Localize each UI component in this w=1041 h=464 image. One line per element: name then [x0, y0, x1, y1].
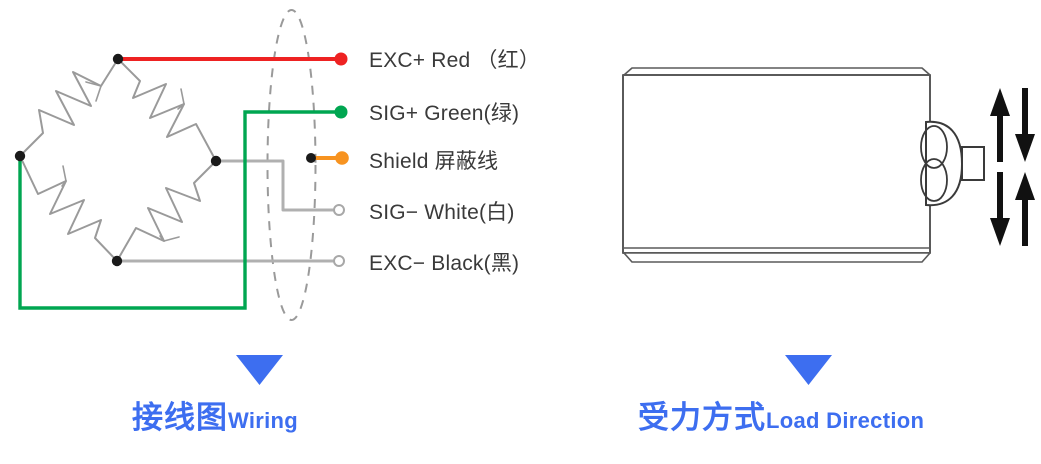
cable-sheath-ellipse: [268, 10, 316, 320]
resistor-top-right: [118, 59, 216, 161]
load-direction-caption-cn: 受力方式: [638, 400, 766, 435]
load-cell-body: [623, 75, 930, 253]
terminal-exc-minus: [334, 256, 344, 266]
terminal-shield: [335, 151, 349, 165]
label-exc-plus: EXC+ Red （红）: [369, 44, 540, 74]
load-cell-drawing: [623, 68, 984, 262]
load-cell-bottom-lip: [624, 253, 930, 262]
load-direction-caption: 受力方式Load Direction: [638, 392, 924, 437]
resistor-arrow-marks: [62, 82, 184, 241]
label-sig-minus: SIG− White(白): [369, 196, 515, 226]
load-cell-top-lip: [624, 68, 930, 75]
arrow-bottom-left: [990, 172, 1010, 246]
terminal-sig-plus: [335, 106, 348, 119]
terminal-exc-plus: [335, 53, 348, 66]
arrow-bottom-right: [1015, 172, 1035, 246]
node-top: [113, 54, 123, 64]
wiring-caption: 接线图Wiring: [132, 392, 298, 437]
cable-gland-nub: [962, 147, 984, 180]
resistor-top-left: [20, 59, 118, 156]
node-shield: [306, 153, 316, 163]
node-bottom: [112, 256, 122, 266]
resistor-bottom-right: [117, 161, 216, 261]
resistor-bottom-left: [20, 156, 117, 261]
bridge-network: [20, 59, 216, 261]
label-exc-minus: EXC− Black(黑): [369, 247, 519, 277]
diagram-canvas: EXC+ Red （红） SIG+ Green(绿) Shield 屏蔽线 SI…: [0, 0, 1041, 464]
arrow-top-right: [1015, 88, 1035, 162]
node-left: [15, 151, 25, 161]
load-direction-caption-triangle: [785, 355, 832, 385]
terminal-sig-minus: [334, 205, 344, 215]
label-sig-plus: SIG+ Green(绿): [369, 97, 519, 127]
label-shield: Shield 屏蔽线: [369, 145, 498, 175]
wiring-caption-cn: 接线图: [132, 400, 228, 435]
wiring-caption-en: Wiring: [228, 408, 298, 433]
node-right: [211, 156, 221, 166]
arrow-top-left: [990, 88, 1010, 162]
wiring-caption-triangle: [236, 355, 283, 385]
load-direction-caption-en: Load Direction: [766, 408, 924, 433]
load-direction-arrows: [990, 88, 1035, 246]
